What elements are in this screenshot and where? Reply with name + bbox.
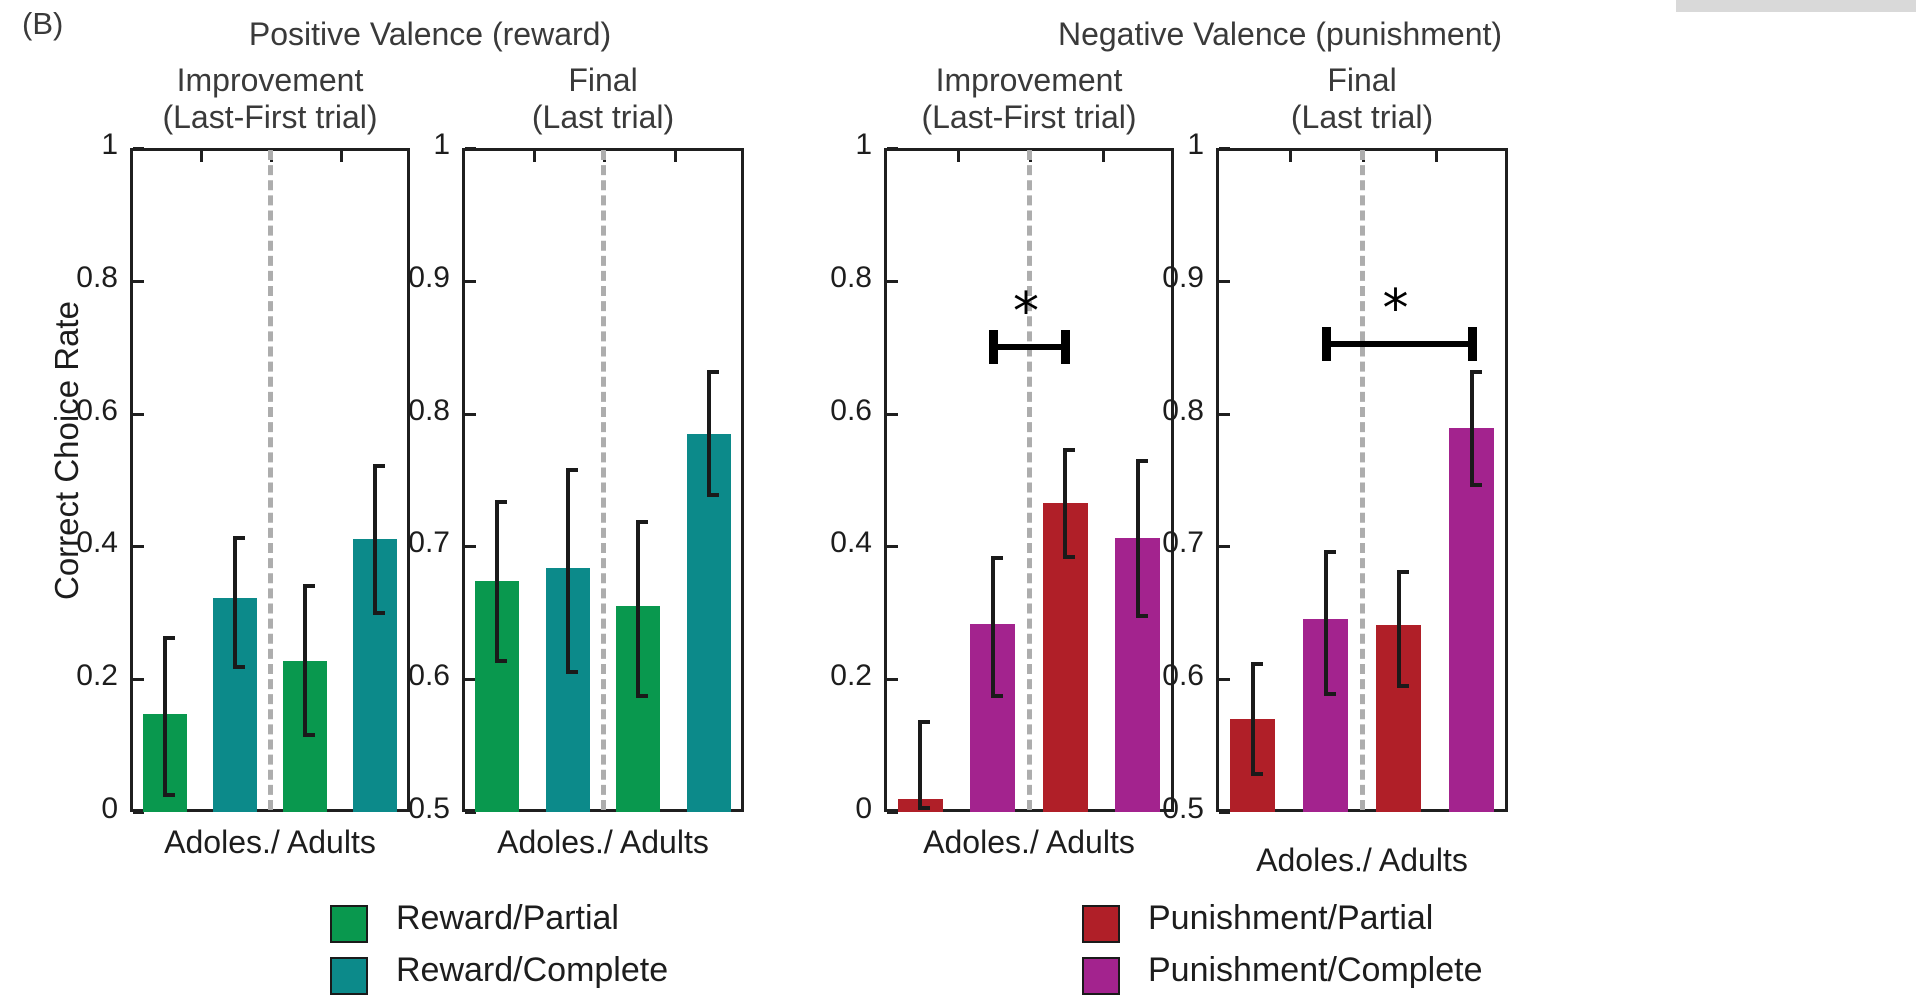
x-tick-mark: [1289, 151, 1292, 162]
error-bar-cap: [373, 464, 385, 468]
adolescent-adult-divider: [268, 150, 278, 810]
error-bar-cap: [233, 665, 245, 669]
significance-bracket-end: [1061, 330, 1070, 364]
adolescent-adult-divider: [1360, 150, 1370, 810]
y-tick-label: 0.5: [322, 792, 450, 826]
error-bar: [636, 520, 640, 698]
y-tick-mark: [1219, 280, 1230, 283]
y-tick-mark: [465, 147, 476, 150]
error-bar-cap: [1063, 555, 1075, 559]
panel-letter: (B): [22, 6, 63, 42]
error-bar-cap: [1324, 550, 1336, 554]
y-tick-label: 1: [744, 128, 872, 162]
panel-title-reward-final: Final(Last trial): [403, 62, 803, 136]
y-tick-mark: [465, 545, 476, 548]
y-tick-label: 1: [1076, 128, 1204, 162]
error-bar-cap: [1470, 483, 1482, 487]
y-tick-label: 1: [322, 128, 450, 162]
error-bar-cap: [233, 536, 245, 540]
error-bar-cap: [707, 493, 719, 497]
error-bar-cap: [991, 556, 1003, 560]
legend-label: Reward/Partial: [396, 899, 619, 938]
reward-complete-swatch: [330, 957, 368, 995]
error-bar-cap: [1136, 614, 1148, 618]
error-bar-cap: [303, 733, 315, 737]
panel-title-main: Final: [1162, 62, 1562, 99]
error-bar: [1397, 570, 1401, 688]
y-tick-label: 0: [0, 792, 118, 826]
y-tick-mark: [465, 280, 476, 283]
y-tick-label: 0.4: [0, 526, 118, 560]
error-bar-cap: [918, 720, 930, 724]
panel-title-punishment-final: Final(Last trial): [1162, 62, 1562, 136]
significance-bracket-line: [993, 344, 1066, 350]
significance-marker: *: [1383, 283, 1409, 335]
y-tick-mark: [465, 678, 476, 681]
error-bar-cap: [707, 370, 719, 374]
x-tick-mark: [674, 151, 677, 162]
y-tick-label: 0.2: [744, 659, 872, 693]
error-bar-cap: [1136, 459, 1148, 463]
y-tick-label: 1: [0, 128, 118, 162]
significance-bracket-end: [1322, 327, 1331, 361]
y-tick-mark: [887, 678, 898, 681]
x-tick-mark: [1435, 151, 1438, 162]
y-tick-mark: [887, 147, 898, 150]
y-tick-mark: [133, 280, 144, 283]
error-bar-cap: [373, 611, 385, 615]
y-tick-mark: [133, 147, 144, 150]
y-tick-mark: [465, 811, 476, 814]
panel-title-sub: (Last trial): [1162, 99, 1562, 136]
y-tick-label: 0.8: [744, 261, 872, 295]
error-bar-cap: [918, 806, 930, 810]
y-tick-mark: [1219, 413, 1230, 416]
y-tick-mark: [1219, 545, 1230, 548]
error-bar-cap: [636, 520, 648, 524]
group-title-negative-valence: Negative Valence (punishment): [890, 16, 1670, 53]
error-bar: [1251, 662, 1255, 776]
error-bar-cap: [163, 793, 175, 797]
error-bar-cap: [303, 584, 315, 588]
y-tick-mark: [1219, 678, 1230, 681]
y-tick-label: 0.4: [744, 526, 872, 560]
y-tick-mark: [887, 413, 898, 416]
error-bar-cap: [163, 636, 175, 640]
y-tick-mark: [887, 545, 898, 548]
y-tick-label: 0.7: [1076, 526, 1204, 560]
legend-label: Punishment/Partial: [1148, 899, 1433, 938]
y-tick-label: 0.2: [0, 659, 118, 693]
error-bar-cap: [991, 694, 1003, 698]
error-bar-cap: [1397, 684, 1409, 688]
error-bar-cap: [566, 468, 578, 472]
y-tick-label: 0.6: [1076, 659, 1204, 693]
error-bar: [495, 500, 499, 663]
error-bar-cap: [1251, 772, 1263, 776]
legend-label: Reward/Complete: [396, 951, 668, 990]
group-title-positive-valence: Positive Valence (reward): [120, 16, 740, 53]
y-tick-label: 0.6: [322, 659, 450, 693]
error-bar: [707, 370, 711, 497]
y-tick-label: 0: [744, 792, 872, 826]
y-tick-mark: [887, 280, 898, 283]
error-bar-cap: [636, 694, 648, 698]
y-tick-mark: [1219, 147, 1230, 150]
x-axis-category-label: Adoles./ Adults: [90, 824, 450, 861]
panel-title-sub: (Last trial): [403, 99, 803, 136]
reward-partial-swatch: [330, 905, 368, 943]
y-tick-label: 0.7: [322, 526, 450, 560]
panel-title-main: Final: [403, 62, 803, 99]
x-axis-category-label: Adoles./ Adults: [1182, 842, 1542, 879]
y-tick-label: 0.8: [322, 394, 450, 428]
y-tick-label: 0.9: [322, 261, 450, 295]
y-tick-mark: [133, 413, 144, 416]
x-tick-mark: [957, 151, 960, 162]
x-axis-category-label: Adoles./ Adults: [849, 824, 1209, 861]
error-bar-cap: [1063, 448, 1075, 452]
error-bar-cap: [1251, 662, 1263, 666]
error-bar: [566, 468, 570, 674]
error-bar: [1470, 370, 1474, 487]
y-tick-label: 0.8: [1076, 394, 1204, 428]
error-bar: [918, 720, 922, 810]
error-bar-cap: [566, 670, 578, 674]
significance-marker: *: [1013, 286, 1039, 338]
error-bar: [233, 536, 237, 669]
significance-bracket-end: [1468, 327, 1477, 361]
error-bar: [991, 556, 995, 698]
error-bar: [303, 584, 307, 737]
y-tick-mark: [887, 811, 898, 814]
significance-bracket-end: [989, 330, 998, 364]
y-tick-mark: [133, 545, 144, 548]
y-tick-mark: [465, 413, 476, 416]
x-tick-mark: [533, 151, 536, 162]
y-tick-label: 0.8: [0, 261, 118, 295]
error-bar: [1324, 550, 1328, 696]
error-bar-cap: [1324, 692, 1336, 696]
y-tick-label: 0.5: [1076, 792, 1204, 826]
error-bar: [163, 636, 167, 797]
y-tick-label: 0.6: [744, 394, 872, 428]
top-right-decoration: [1676, 0, 1916, 12]
punishment-complete-swatch: [1082, 957, 1120, 995]
adolescent-adult-divider: [1027, 150, 1037, 810]
error-bar-cap: [1470, 370, 1482, 374]
punishment-partial-swatch: [1082, 905, 1120, 943]
error-bar-cap: [495, 500, 507, 504]
y-tick-label: 0.6: [0, 394, 118, 428]
error-bar-cap: [1397, 570, 1409, 574]
x-tick-mark: [200, 151, 203, 162]
legend-label: Punishment/Complete: [1148, 951, 1483, 990]
error-bar-cap: [495, 659, 507, 663]
y-tick-mark: [133, 678, 144, 681]
x-axis-category-label: Adoles./ Adults: [423, 824, 783, 861]
significance-bracket-line: [1326, 341, 1472, 347]
y-tick-label: 0.9: [1076, 261, 1204, 295]
y-tick-mark: [1219, 811, 1230, 814]
error-bar: [1063, 448, 1067, 559]
adolescent-adult-divider: [601, 150, 611, 810]
